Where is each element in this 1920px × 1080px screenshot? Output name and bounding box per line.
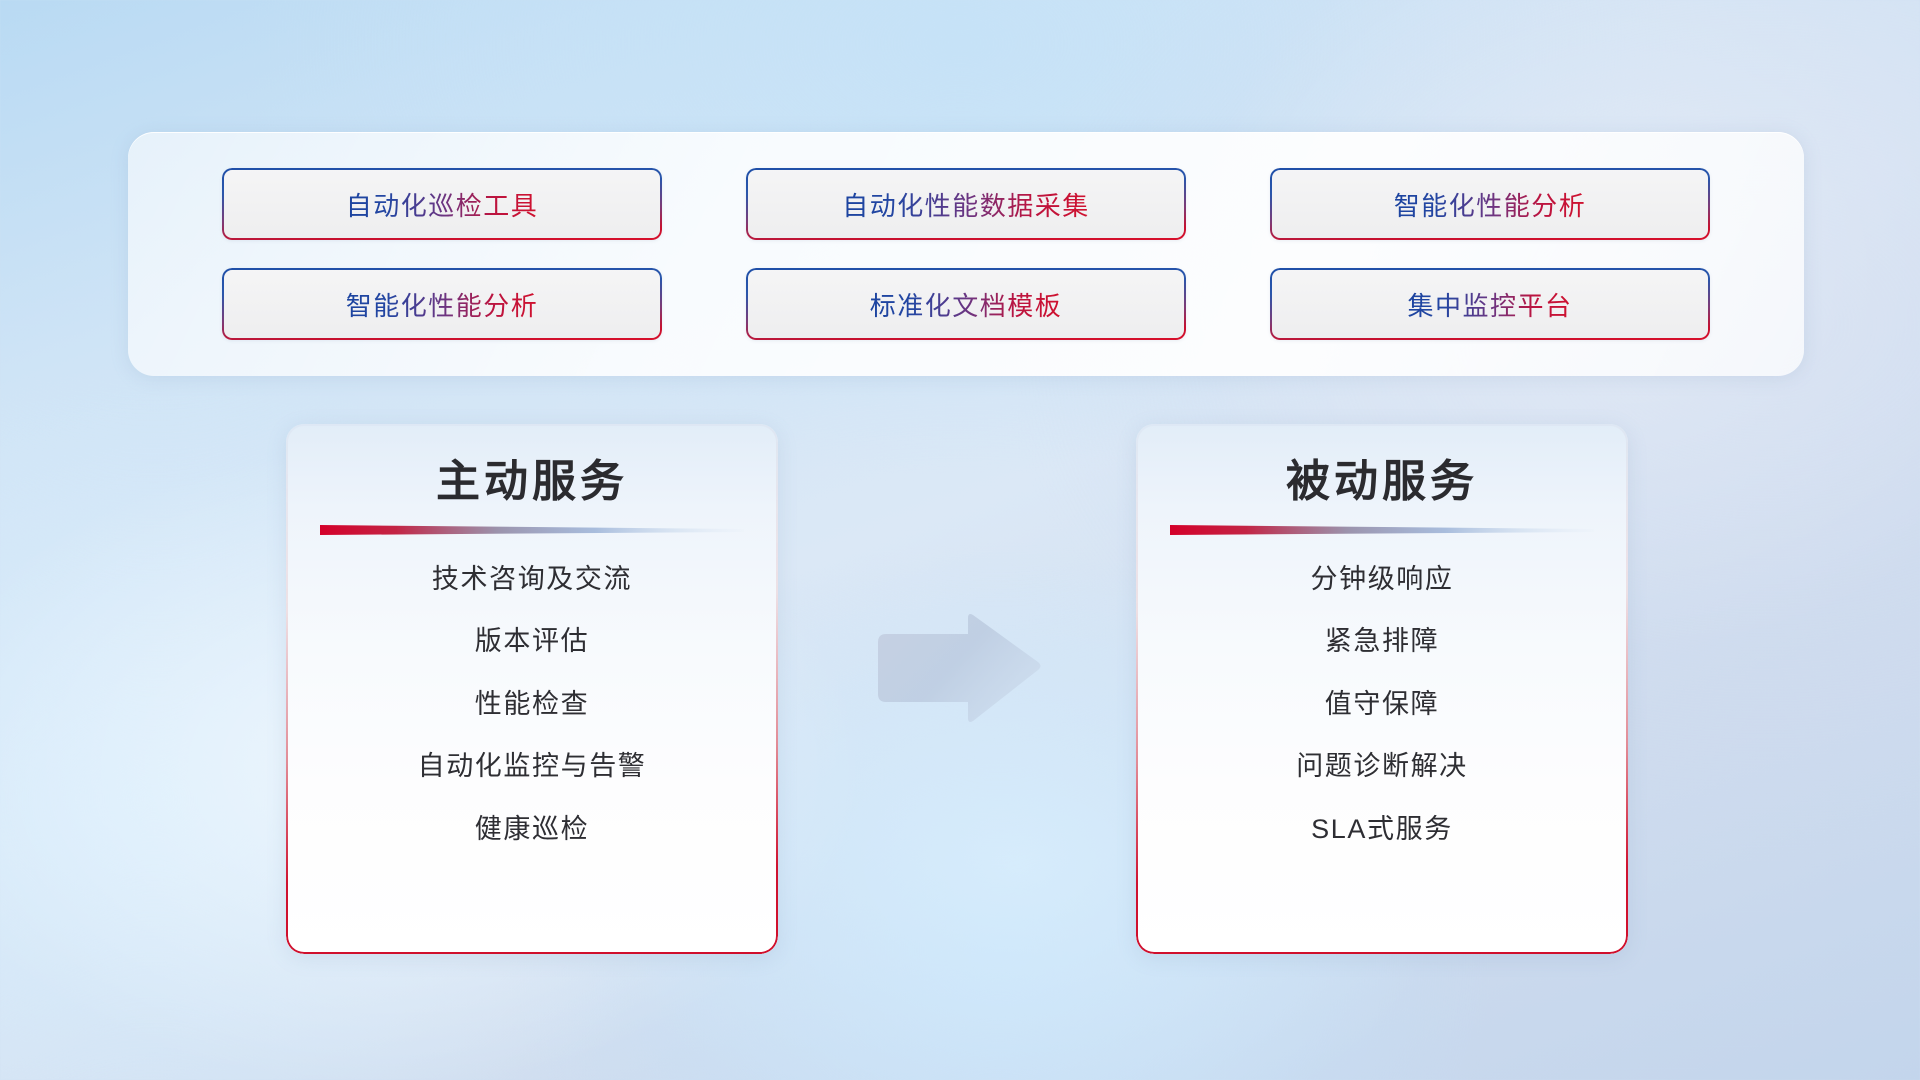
pill-label: 智能化性能分析 [1394,186,1587,223]
list-item: 自动化监控与告警 [418,750,647,782]
pill-auto-inspection-tool[interactable]: 自动化巡检工具 [222,168,662,240]
pill-label: 自动化巡检工具 [346,186,539,223]
list-item: 技术咨询及交流 [432,563,632,595]
card-service-list: 技术咨询及交流 版本评估 性能检查 自动化监控与告警 健康巡检 [286,563,778,845]
pill-label: 智能化性能分析 [346,286,539,323]
card-proactive-service: 主动服务 技术咨询及交流 版本评估 性能检查 [286,424,778,954]
list-item: 版本评估 [475,625,589,657]
pill-central-monitoring-platform[interactable]: 集中监控平台 [1270,268,1710,340]
pill-intelligent-perf-analysis-2[interactable]: 智能化性能分析 [222,268,662,340]
pill-intelligent-perf-analysis-1[interactable]: 智能化性能分析 [1270,168,1710,240]
card-reactive-service: 被动服务 分钟级响应 紧急排障 值守保障 [1136,424,1628,954]
pill-auto-perf-data-collection[interactable]: 自动化性能数据采集 [746,168,1186,240]
pill-standard-doc-template[interactable]: 标准化文档模板 [746,268,1186,340]
card-title: 被动服务 [1286,454,1478,509]
pill-label: 标准化文档模板 [870,286,1063,323]
pill-label: 自动化性能数据采集 [842,186,1090,223]
list-item: 分钟级响应 [1311,563,1454,595]
list-item: 值守保障 [1325,688,1439,720]
pill-label: 集中监控平台 [1407,286,1572,323]
card-title: 主动服务 [436,454,628,509]
list-item: 紧急排障 [1325,625,1439,657]
list-item: 健康巡检 [475,813,589,845]
card-divider [320,523,744,537]
capability-panel: 自动化巡检工具 自动化性能数据采集 智能化性能分析 智能化性能分析 标准化文档模… [128,132,1804,376]
card-service-list: 分钟级响应 紧急排障 值守保障 问题诊断解决 SLA式服务 [1136,563,1628,845]
flow-arrow-right-icon [872,612,1044,724]
card-divider [1170,523,1594,537]
list-item: 性能检查 [475,688,589,720]
list-item: SLA式服务 [1311,813,1453,845]
capability-pill-grid: 自动化巡检工具 自动化性能数据采集 智能化性能分析 智能化性能分析 标准化文档模… [128,168,1804,340]
list-item: 问题诊断解决 [1296,750,1468,782]
